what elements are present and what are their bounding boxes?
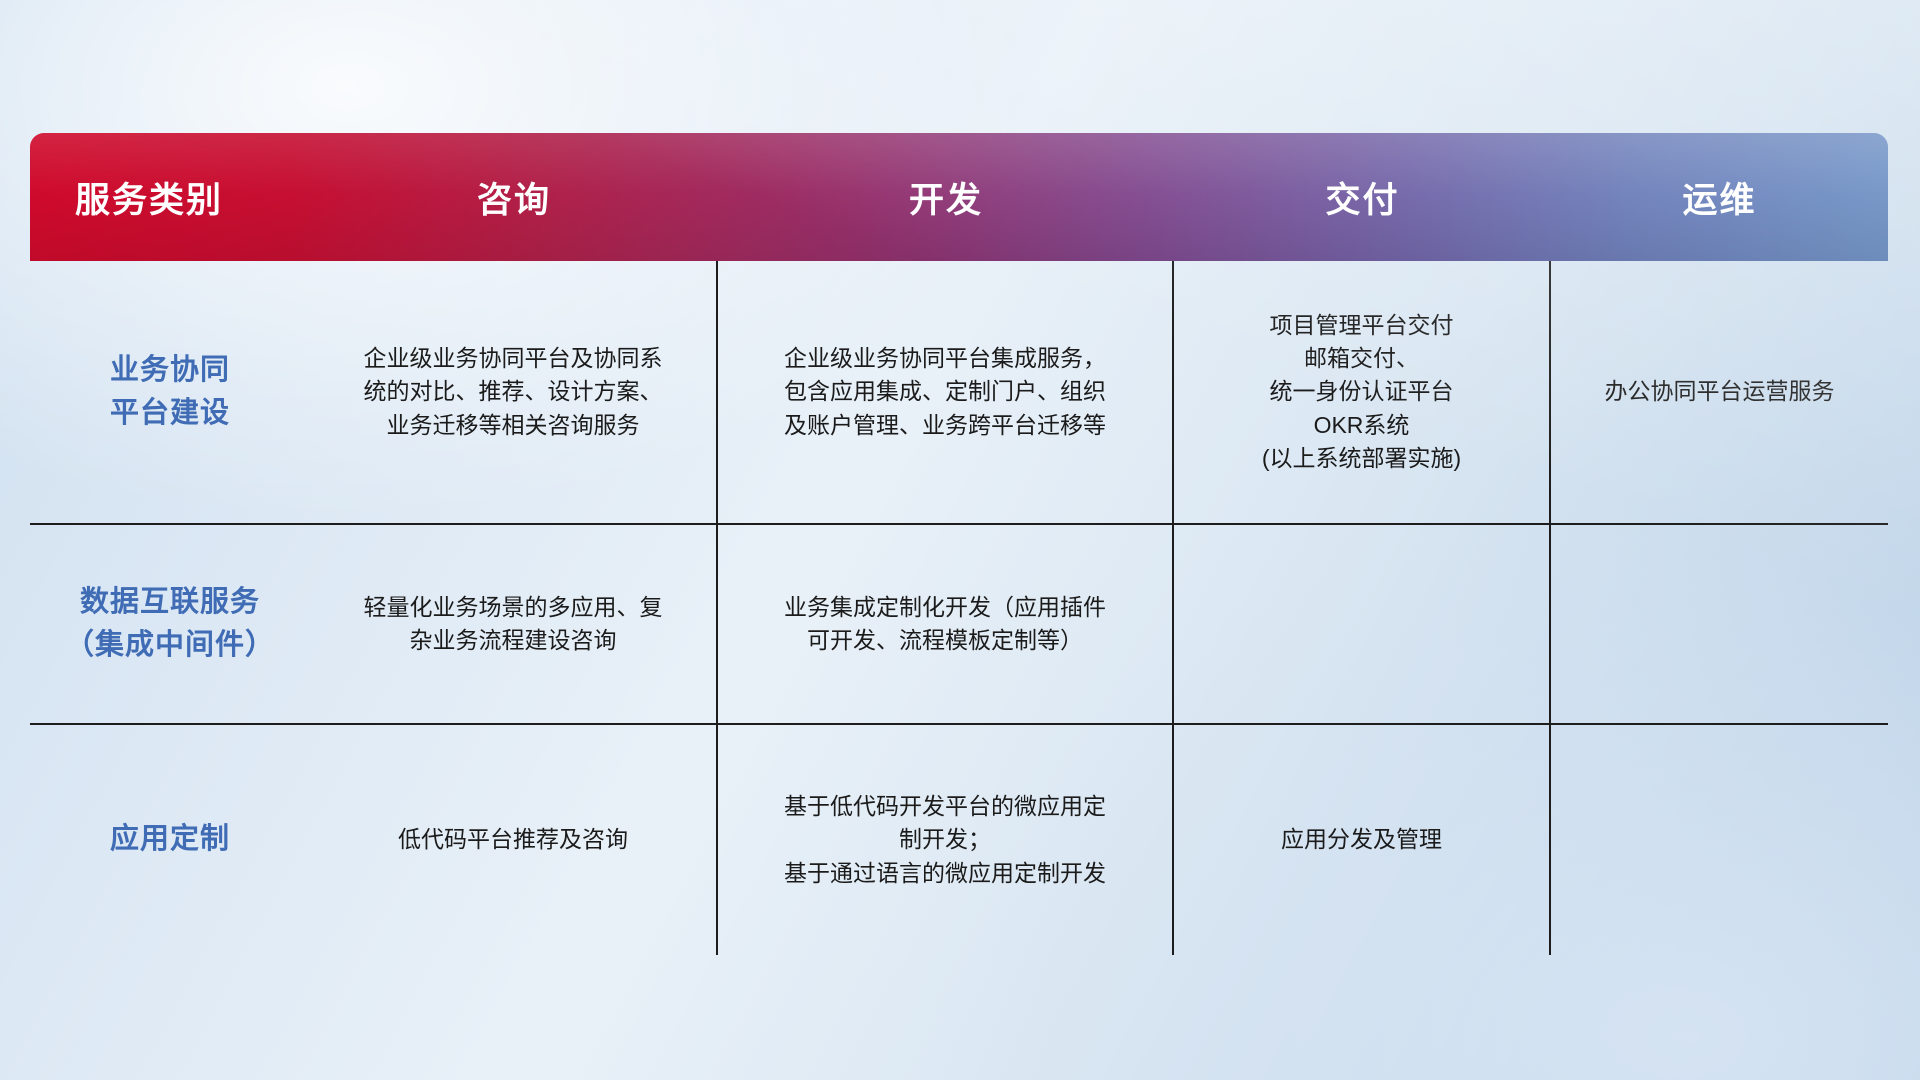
cell-development: 业务集成定制化开发（应用插件 可开发、流程模板定制等） (718, 525, 1174, 723)
table-row: 数据互联服务 （集成中间件） 轻量化业务场景的多应用、复 杂业务流程建设咨询 业… (30, 525, 1888, 725)
column-header-consulting: 咨询 (310, 172, 718, 223)
cell-delivery: 应用分发及管理 (1174, 725, 1551, 955)
cell-delivery: 项目管理平台交付 邮箱交付、 统一身份认证平台 OKR系统 (以上系统部署实施) (1174, 261, 1551, 523)
service-matrix-table: 服务类别 咨询 开发 交付 运维 业务协同 平台建设 企业级业务协同平台及协同系… (30, 133, 1888, 953)
cell-development: 企业级业务协同平台集成服务， 包含应用集成、定制门户、组织 及账户管理、业务跨平… (718, 261, 1174, 523)
cell-consulting: 企业级业务协同平台及协同系 统的对比、推荐、设计方案、 业务迁移等相关咨询服务 (310, 261, 718, 523)
page-background: 服务类别 咨询 开发 交付 运维 业务协同 平台建设 企业级业务协同平台及协同系… (0, 0, 1920, 1080)
table-body: 业务协同 平台建设 企业级业务协同平台及协同系 统的对比、推荐、设计方案、 业务… (30, 261, 1888, 955)
cell-consulting: 轻量化业务场景的多应用、复 杂业务流程建设咨询 (310, 525, 718, 723)
row-category-label: 应用定制 (30, 725, 310, 955)
table-row: 业务协同 平台建设 企业级业务协同平台及协同系 统的对比、推荐、设计方案、 业务… (30, 261, 1888, 525)
column-header-operations: 运维 (1551, 172, 1888, 223)
cell-delivery (1174, 525, 1551, 723)
cell-consulting: 低代码平台推荐及咨询 (310, 725, 718, 955)
cell-operations (1551, 725, 1888, 955)
row-category-label: 数据互联服务 （集成中间件） (30, 525, 310, 723)
column-header-service-category: 服务类别 (30, 172, 310, 223)
row-category-label: 业务协同 平台建设 (30, 261, 310, 523)
cell-operations: 办公协同平台运营服务 (1551, 261, 1888, 523)
cell-operations (1551, 525, 1888, 723)
cell-development: 基于低代码开发平台的微应用定 制开发； 基于通过语言的微应用定制开发 (718, 725, 1174, 955)
table-row: 应用定制 低代码平台推荐及咨询 基于低代码开发平台的微应用定 制开发； 基于通过… (30, 725, 1888, 955)
column-header-development: 开发 (718, 172, 1174, 223)
table-header-row: 服务类别 咨询 开发 交付 运维 (30, 133, 1888, 261)
column-header-delivery: 交付 (1174, 172, 1551, 223)
